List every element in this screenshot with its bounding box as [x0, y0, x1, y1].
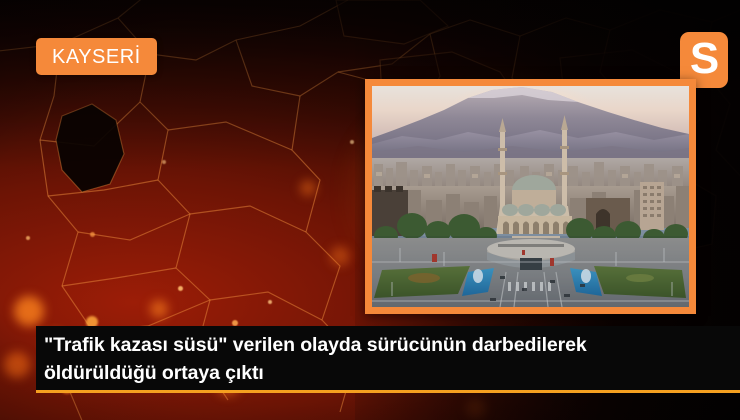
headline-accent-rule — [36, 390, 740, 393]
kayseri-cityscape-illustration — [372, 86, 689, 307]
news-photo — [372, 86, 689, 307]
news-card: KAYSERİ S — [0, 0, 740, 420]
headline-text: "Trafik kazası süsü" verilen olayda sürü… — [44, 331, 730, 387]
city-badge-label: KAYSERİ — [52, 47, 141, 67]
headline-bar: "Trafik kazası süsü" verilen olayda sürü… — [36, 326, 740, 392]
news-photo-frame — [365, 79, 696, 314]
brand-logo-letter: S — [690, 37, 718, 81]
city-badge: KAYSERİ — [36, 38, 157, 75]
